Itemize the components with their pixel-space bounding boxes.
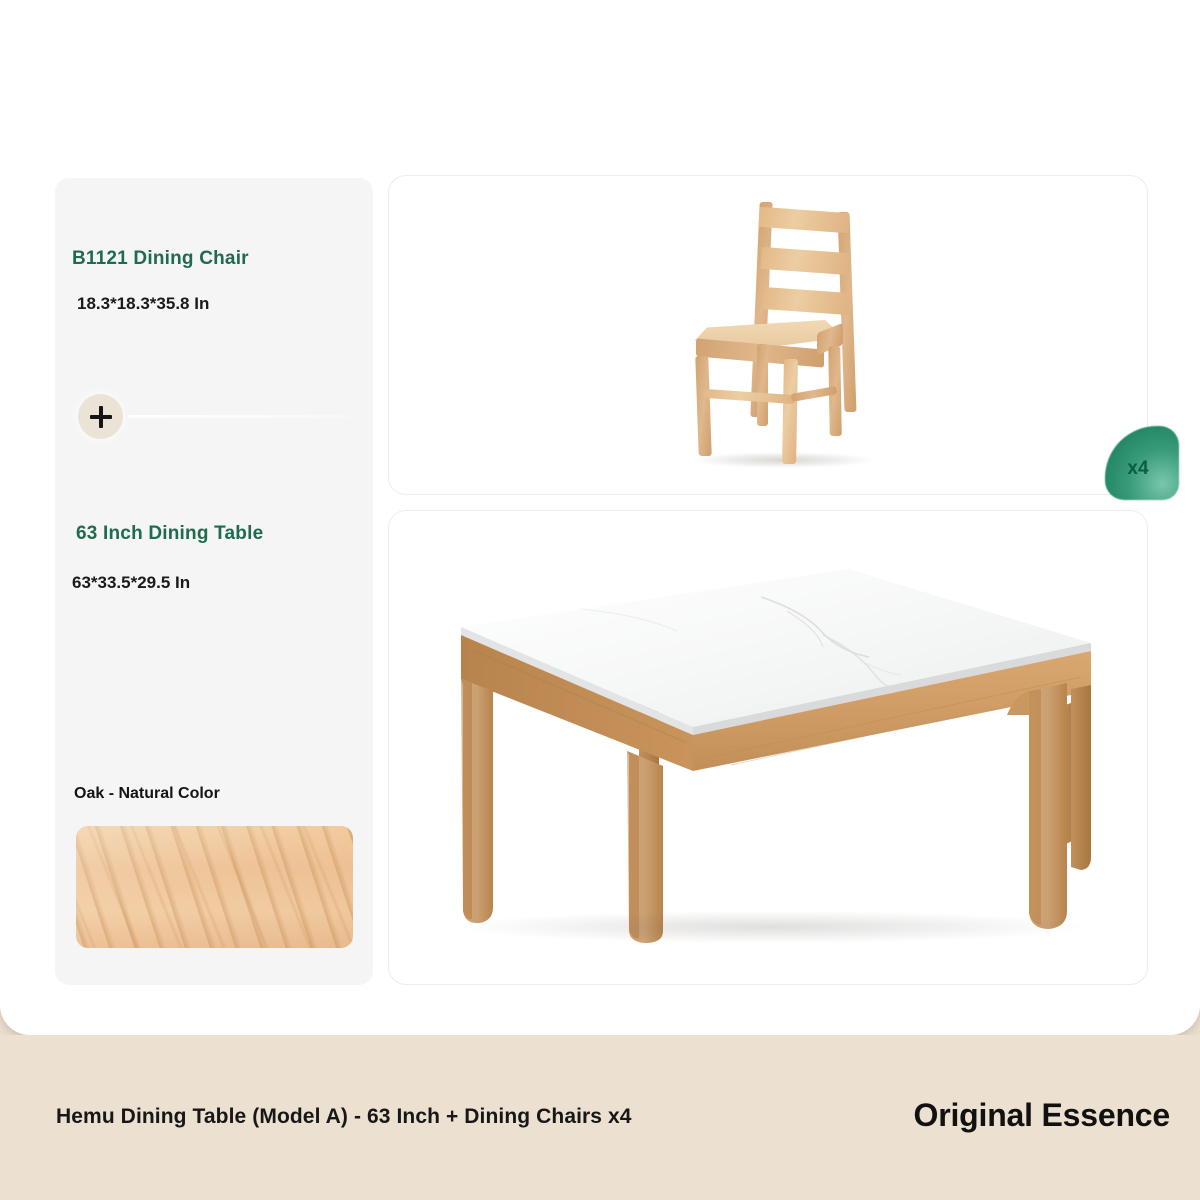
material-label: Oak - Natural Color bbox=[74, 785, 224, 804]
divider-line bbox=[128, 415, 350, 418]
chair-stretcher-front bbox=[703, 389, 795, 404]
content-sheet: B1121 Dining Chair 18.3*18.3*35.8 In 63 … bbox=[0, 0, 1200, 1035]
chair-slat-top bbox=[758, 207, 849, 234]
quantity-badge: x4 bbox=[1105, 426, 1179, 500]
table-stage bbox=[389, 511, 1147, 984]
spec-dimensions-table: 63*33.5*29.5 In bbox=[72, 573, 190, 593]
product-configuration-page: B1121 Dining Chair 18.3*18.3*35.8 In 63 … bbox=[0, 0, 1200, 1200]
dining-chair-image bbox=[677, 194, 887, 479]
chair-leg-back-left bbox=[757, 344, 768, 426]
chair-slat-middle bbox=[760, 247, 849, 275]
dining-table-svg bbox=[431, 539, 1111, 959]
product-card-table[interactable] bbox=[388, 510, 1148, 985]
add-item-row bbox=[78, 394, 353, 442]
spec-panel: B1121 Dining Chair 18.3*18.3*35.8 In 63 … bbox=[55, 178, 373, 985]
brand-logo: Original Essence bbox=[914, 1097, 1170, 1134]
swatch-sheen bbox=[76, 826, 353, 948]
spec-dimensions-chair: 18.3*18.3*35.8 In bbox=[77, 294, 209, 314]
product-title: Hemu Dining Table (Model A) - 63 Inch + … bbox=[56, 1105, 632, 1129]
dining-table-image bbox=[431, 539, 1111, 959]
spec-title-chair: B1121 Dining Chair bbox=[72, 248, 249, 270]
chair-slat-bottom bbox=[762, 287, 849, 315]
material-swatch[interactable] bbox=[76, 826, 353, 948]
chair-stage: x4 bbox=[389, 176, 1147, 494]
chair-leg-front-right bbox=[782, 359, 798, 464]
table-shadow bbox=[461, 911, 1081, 943]
spec-title-table: 63 Inch Dining Table bbox=[76, 523, 263, 545]
quantity-badge-label: x4 bbox=[1127, 458, 1148, 480]
plus-icon bbox=[90, 406, 112, 428]
product-card-chair[interactable]: x4 bbox=[388, 175, 1148, 495]
chair-leg-front-left bbox=[695, 356, 711, 456]
add-item-button[interactable] bbox=[78, 394, 123, 439]
footer-bar: Hemu Dining Table (Model A) - 63 Inch + … bbox=[0, 1035, 1200, 1200]
